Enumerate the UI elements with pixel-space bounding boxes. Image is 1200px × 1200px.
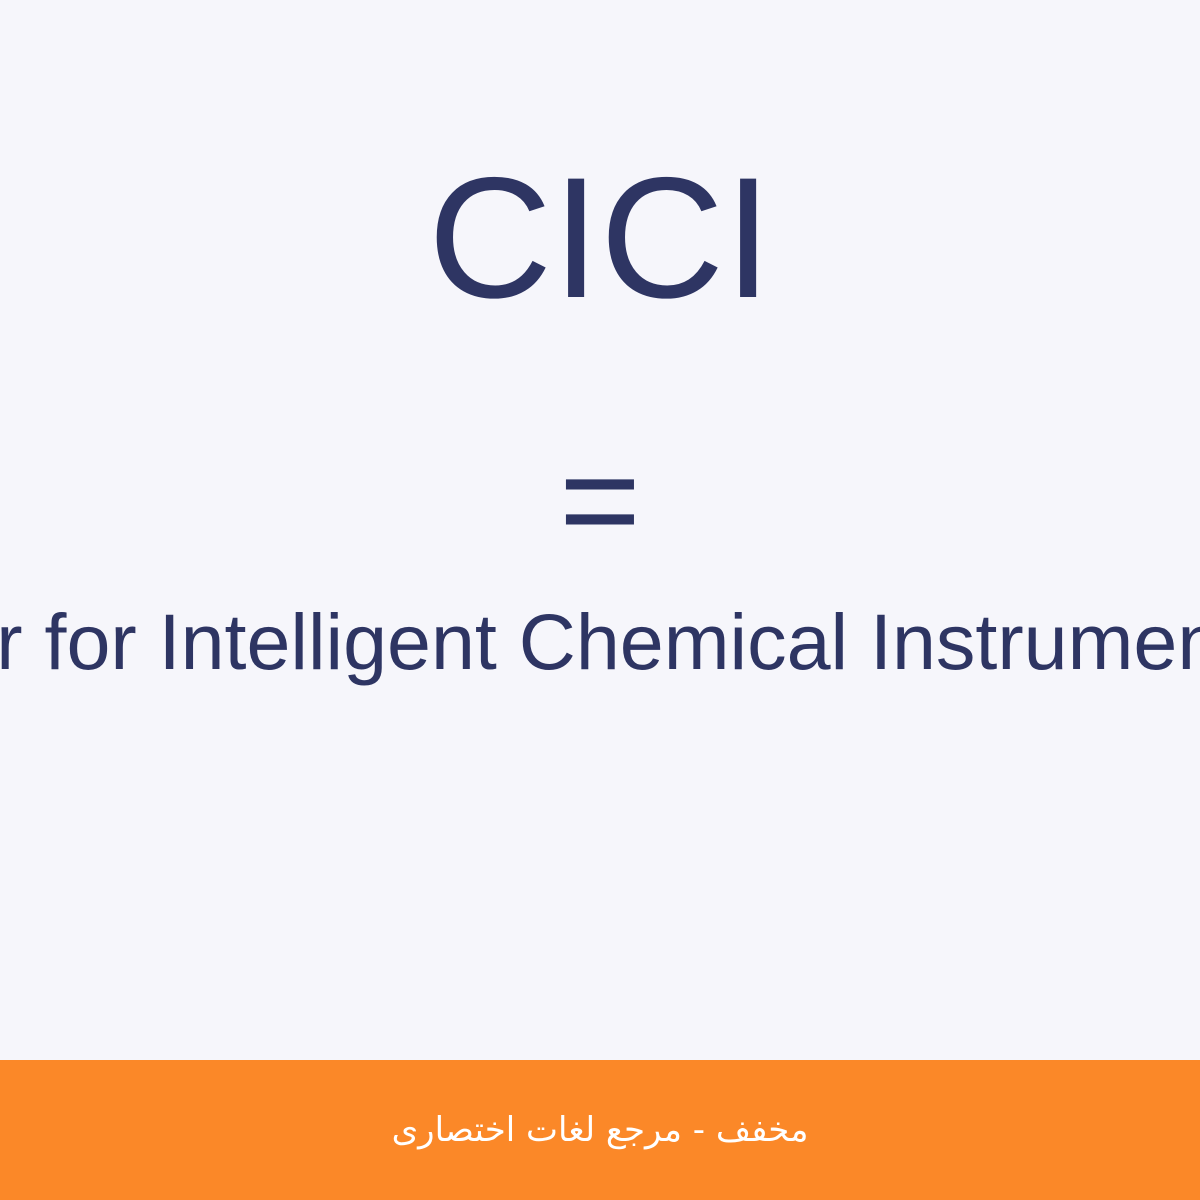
equals-sign: =	[559, 430, 641, 570]
footer-bar: مخفف - مرجع لغات اختصاری	[0, 1060, 1200, 1200]
expansion-text: Center for Intelligent Chemical Instrume…	[0, 598, 1200, 686]
expansion-row: Center for Intelligent Chemical Instrume…	[0, 598, 1200, 686]
card-stage: CICI = Center for Intelligent Chemical I…	[0, 0, 1200, 1060]
acronym-title: CICI	[428, 152, 772, 324]
equals-row: =	[0, 430, 1200, 570]
acronym-row: CICI	[0, 152, 1200, 324]
abbreviation-card: CICI = Center for Intelligent Chemical I…	[0, 0, 1200, 1200]
footer-brand-text: مخفف - مرجع لغات اختصاری	[392, 1108, 809, 1152]
